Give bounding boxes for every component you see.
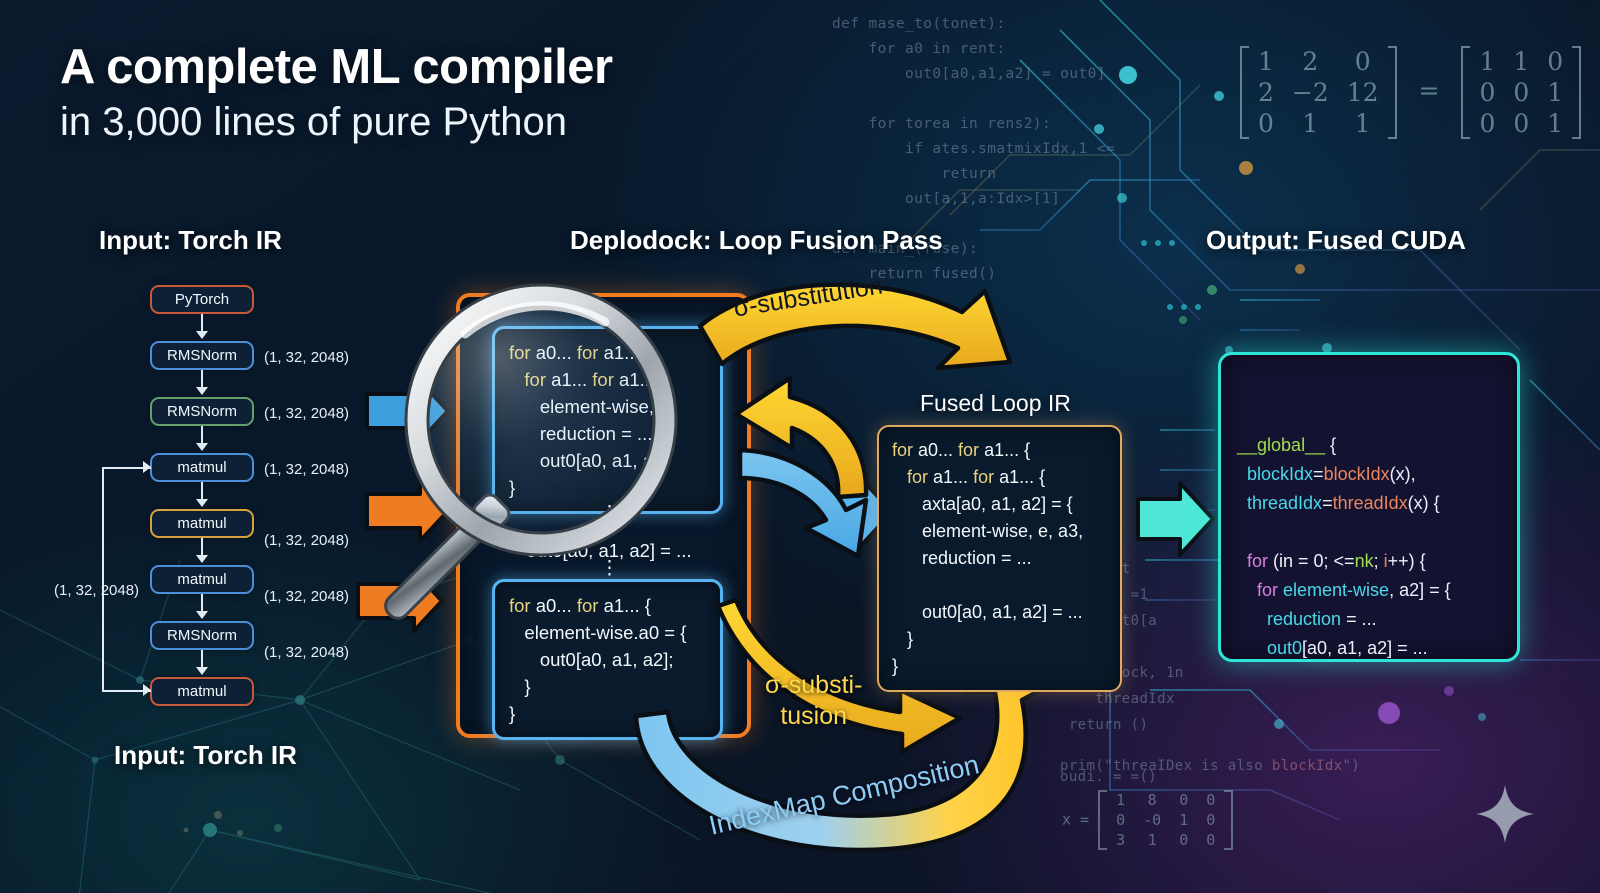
matrix-cell: 0 <box>1197 790 1224 810</box>
matrix-cell: 1 <box>1170 810 1197 830</box>
fused-loop-ir-title: Fused Loop IR <box>920 390 1071 417</box>
cuda-code-token: element-wise <box>1278 580 1389 600</box>
graph-node-rmsnorm-1[interactable]: RMSNorm <box>150 341 254 370</box>
cuda-output-card: __global__ { blockIdx=blockIdx(x), threa… <box>1218 352 1520 662</box>
title-block: A complete ML compiler in 3,000 lines of… <box>60 42 613 145</box>
matrix-row: 2 −2 12 <box>1249 77 1388 108</box>
matrix-cell: 1 <box>1283 108 1338 139</box>
heading-pass: Deplodock: Loop Fusion Pass <box>570 225 943 256</box>
keyword-for: for <box>958 440 979 460</box>
matrix-equation-top: 1 2 0 2 −2 12 0 1 1 = <box>1240 46 1581 139</box>
graph-edge <box>201 370 203 387</box>
graph-edge <box>201 426 203 443</box>
graph-edge <box>201 314 203 331</box>
cuda-code-token: reduction <box>1237 609 1341 629</box>
matrix-row: 1 2 0 <box>1249 46 1388 77</box>
cuda-code-token: = <box>1313 464 1324 484</box>
matrix-cell: 0 <box>1470 108 1504 139</box>
matrix-cell: 1 <box>1107 790 1134 810</box>
cuda-code-token: __global__ <box>1237 435 1325 455</box>
bracket-left <box>1098 790 1107 850</box>
matrix-cell: 0 <box>1170 790 1197 810</box>
matrix-cell: 0 <box>1538 46 1572 77</box>
cuda-code-token: ++) { <box>1388 551 1426 571</box>
graph-shape-label-left: (1, 32, 2048) <box>54 582 139 599</box>
bracket-left <box>1461 46 1470 139</box>
matrix-cell: 0 <box>1107 810 1134 830</box>
cuda-code-token: (x) { <box>1408 493 1440 513</box>
cuda-code-token: { <box>1325 435 1336 455</box>
bracket-left <box>1240 46 1249 139</box>
matrix-cell: 1 <box>1249 46 1283 77</box>
graph-node-matmul-4[interactable]: matmul <box>150 677 254 706</box>
graph-edge <box>201 650 203 667</box>
matrix-cell: 0 <box>1470 77 1504 108</box>
cuda-code-token: blockIdx <box>1237 464 1313 484</box>
fused-loop-ir-card: for a0... for a1... { for a1... for a1..… <box>877 425 1122 692</box>
heading-input-footer: Input: Torch IR <box>114 740 297 771</box>
matrix-cell: 0 <box>1338 46 1388 77</box>
graph-edge <box>201 538 203 555</box>
matrix-cell: 8 <box>1134 790 1170 810</box>
matrix-row: 1 1 0 <box>1470 46 1572 77</box>
cuda-code-line: reduction = ... <box>1237 605 1501 634</box>
matrix-row: 0 1 1 <box>1249 108 1388 139</box>
cuda-code-token: = <box>1322 493 1333 513</box>
matrix-cell: 0 <box>1249 108 1283 139</box>
graph-edge-arrow <box>196 387 208 395</box>
cuda-code-line: for (in = 0; <=nk; i++) { <box>1237 547 1501 576</box>
cuda-code-line: __global__ { <box>1237 431 1501 460</box>
cuda-code-token: , a2] = { <box>1389 580 1451 600</box>
label-sigma-substitution-top: σ-substitution <box>732 271 885 323</box>
matrix-cell: 0 <box>1504 108 1538 139</box>
keyword-for: for <box>892 440 913 460</box>
keyword-for: for <box>592 369 614 390</box>
matrix-cell: 0 <box>1170 830 1197 850</box>
matrix-row: 0 -0 1 0 <box>1107 810 1224 830</box>
graph-node-matmul-1[interactable]: matmul <box>150 453 254 482</box>
torch-ir-graph: PyTorch RMSNorm RMSNorm matmul matmul ma… <box>60 285 390 720</box>
page-title: A complete ML compiler <box>60 42 613 93</box>
graph-edge-arrow <box>196 499 208 507</box>
matrix-cell: 1 <box>1134 830 1170 850</box>
graph-shape-label: (1, 32, 2048) <box>264 588 349 605</box>
matrix-cell: 3 <box>1107 830 1134 850</box>
matrix-cell: 0 <box>1197 810 1224 830</box>
graph-shape-label: (1, 32, 2048) <box>264 532 349 549</box>
graph-edge <box>201 594 203 611</box>
print-highlight: blockIdx <box>1272 758 1343 774</box>
label-sigma-substitution-bottom: σ-substi- tusion <box>765 670 862 732</box>
keyword-for: for <box>973 467 994 487</box>
arrow-cyan-to-cuda <box>1138 483 1213 555</box>
graph-edge-arrow <box>196 555 208 563</box>
cuda-code-token: nk <box>1355 551 1374 571</box>
loop-fusion-pass-panel: for a0... for a1... { for a1... for a1..… <box>456 293 751 738</box>
cuda-code-token: (in = 0; <= <box>1268 551 1355 571</box>
bracket-right <box>1572 46 1581 139</box>
graph-node-matmul-2[interactable]: matmul <box>150 509 254 538</box>
matrix-cell: 1 <box>1504 46 1538 77</box>
bracket-right <box>1388 46 1397 139</box>
graph-edge-arrow <box>196 331 208 339</box>
matrix-cell: 1 <box>1538 77 1572 108</box>
graph-feedback-arrow-top <box>143 461 151 473</box>
matrix-equation-bottom: x = 1 8 0 0 0 -0 1 0 3 1 0 <box>1062 790 1233 850</box>
cuda-code-token: threadIdx <box>1333 493 1408 513</box>
graph-node-matmul-3[interactable]: matmul <box>150 565 254 594</box>
matrix-row: 3 1 0 0 <box>1107 830 1224 850</box>
infographic-canvas: def mase_to(tonet): for a0 in rent: out0… <box>0 0 1600 893</box>
graph-edge-arrow <box>196 443 208 451</box>
matrix-row: 0 0 1 <box>1470 108 1572 139</box>
graph-feedback-spine <box>102 467 104 691</box>
matrix-cell: 1 <box>1470 46 1504 77</box>
matrix-cell: 0 <box>1504 77 1538 108</box>
cuda-code-line: blockIdx=blockIdx(x), <box>1237 460 1501 489</box>
keyword-for: for <box>907 467 928 487</box>
keyword-for: for <box>577 342 599 363</box>
cuda-code-line: out0[a0, a1, a2] = ... <box>1237 634 1501 662</box>
cuda-code-token: (x), <box>1390 464 1416 484</box>
cuda-code-line <box>1237 518 1501 547</box>
graph-shape-label: (1, 32, 2048) <box>264 461 349 478</box>
matrix-row: 0 0 1 <box>1470 77 1572 108</box>
equals-sign: = <box>1405 76 1454 105</box>
graph-shape-label: (1, 32, 2048) <box>264 349 349 366</box>
heading-input: Input: Torch IR <box>99 225 282 256</box>
keyword-for: for <box>524 369 546 390</box>
print-suffix: ") <box>1343 758 1361 774</box>
page-subtitle: in 3,000 lines of pure Python <box>60 99 613 145</box>
blue-arc-arrow <box>740 450 866 556</box>
print-prefix: prim("threaIDex is also <box>1060 758 1272 774</box>
bracket-right <box>1224 790 1233 850</box>
cuda-code-token: for <box>1237 580 1278 600</box>
graph-feedback-arrow-bottom <box>143 684 151 696</box>
matrix-bottom-table: 1 8 0 0 0 -0 1 0 3 1 0 0 <box>1107 790 1224 850</box>
matrix-left: 1 2 0 2 −2 12 0 1 1 <box>1240 46 1397 139</box>
matrix-bottom-label: x = <box>1062 811 1089 829</box>
matrix-cell: 12 <box>1338 77 1388 108</box>
cuda-code-token: blockIdx <box>1324 464 1390 484</box>
matrix-cell: 2 <box>1283 46 1338 77</box>
cuda-code-line: threadIdx=threadIdx(x) { <box>1237 489 1501 518</box>
heading-output: Output: Fused CUDA <box>1206 225 1466 256</box>
label-indexmap-composition: IndexMap Composition <box>706 749 982 841</box>
cuda-code-token: [a0, a1, a2] = ... <box>1302 638 1428 658</box>
matrix-cell: 1 <box>1338 108 1388 139</box>
cuda-code-token: for <box>1237 551 1268 571</box>
cuda-code-token: = ... <box>1341 609 1377 629</box>
graph-shape-label: (1, 32, 2048) <box>264 405 349 422</box>
cuda-code-token: out0 <box>1237 638 1302 658</box>
graph-edge-arrow <box>196 667 208 675</box>
keyword-for: for <box>509 595 531 616</box>
matrix-cell: -0 <box>1134 810 1170 830</box>
sparkle-icon <box>1474 783 1536 845</box>
sigma-return-arrow <box>736 378 866 497</box>
graph-node-rmsnorm-2[interactable]: RMSNorm <box>150 397 254 426</box>
vertical-ellipsis-lower: ⋮ <box>600 565 614 572</box>
graph-node-pytorch[interactable]: PyTorch <box>150 285 254 314</box>
keyword-for: for <box>509 342 531 363</box>
matrix-cell: −2 <box>1283 77 1338 108</box>
cuda-code-token: ; <box>1374 551 1384 571</box>
matrix-row: 1 8 0 0 <box>1107 790 1224 810</box>
cuda-code-token: threadIdx <box>1237 493 1322 513</box>
matrix-cell: 1 <box>1538 108 1572 139</box>
matrix-right-table: 1 1 0 0 0 1 0 0 1 <box>1470 46 1572 139</box>
vertical-ellipsis-upper: ⋮ <box>600 510 614 517</box>
background-code-print-line: prim("threaIDex is also blockIdx") <box>1060 758 1360 774</box>
matrix-cell: 0 <box>1197 830 1224 850</box>
keyword-for: for <box>577 595 599 616</box>
cuda-code-line: for element-wise, a2] = { <box>1237 576 1501 605</box>
matrix-bottom-body: 1 8 0 0 0 -0 1 0 3 1 0 0 <box>1098 790 1233 850</box>
code-card-before-top: for a0... for a1... { for a1... for a1..… <box>492 326 723 514</box>
graph-node-rmsnorm-3[interactable]: RMSNorm <box>150 621 254 650</box>
graph-edge-arrow <box>196 611 208 619</box>
graph-shape-label: (1, 32, 2048) <box>264 644 349 661</box>
code-card-before-bottom: for a0... for a1... { element-wise.a0 = … <box>492 579 723 740</box>
matrix-cell: 2 <box>1249 77 1283 108</box>
matrix-right: 1 1 0 0 0 1 0 0 1 <box>1461 46 1581 139</box>
graph-edge <box>201 482 203 499</box>
matrix-left-table: 1 2 0 2 −2 12 0 1 1 <box>1249 46 1388 139</box>
cuda-code-lines: __global__ { blockIdx=blockIdx(x), threa… <box>1237 431 1501 662</box>
